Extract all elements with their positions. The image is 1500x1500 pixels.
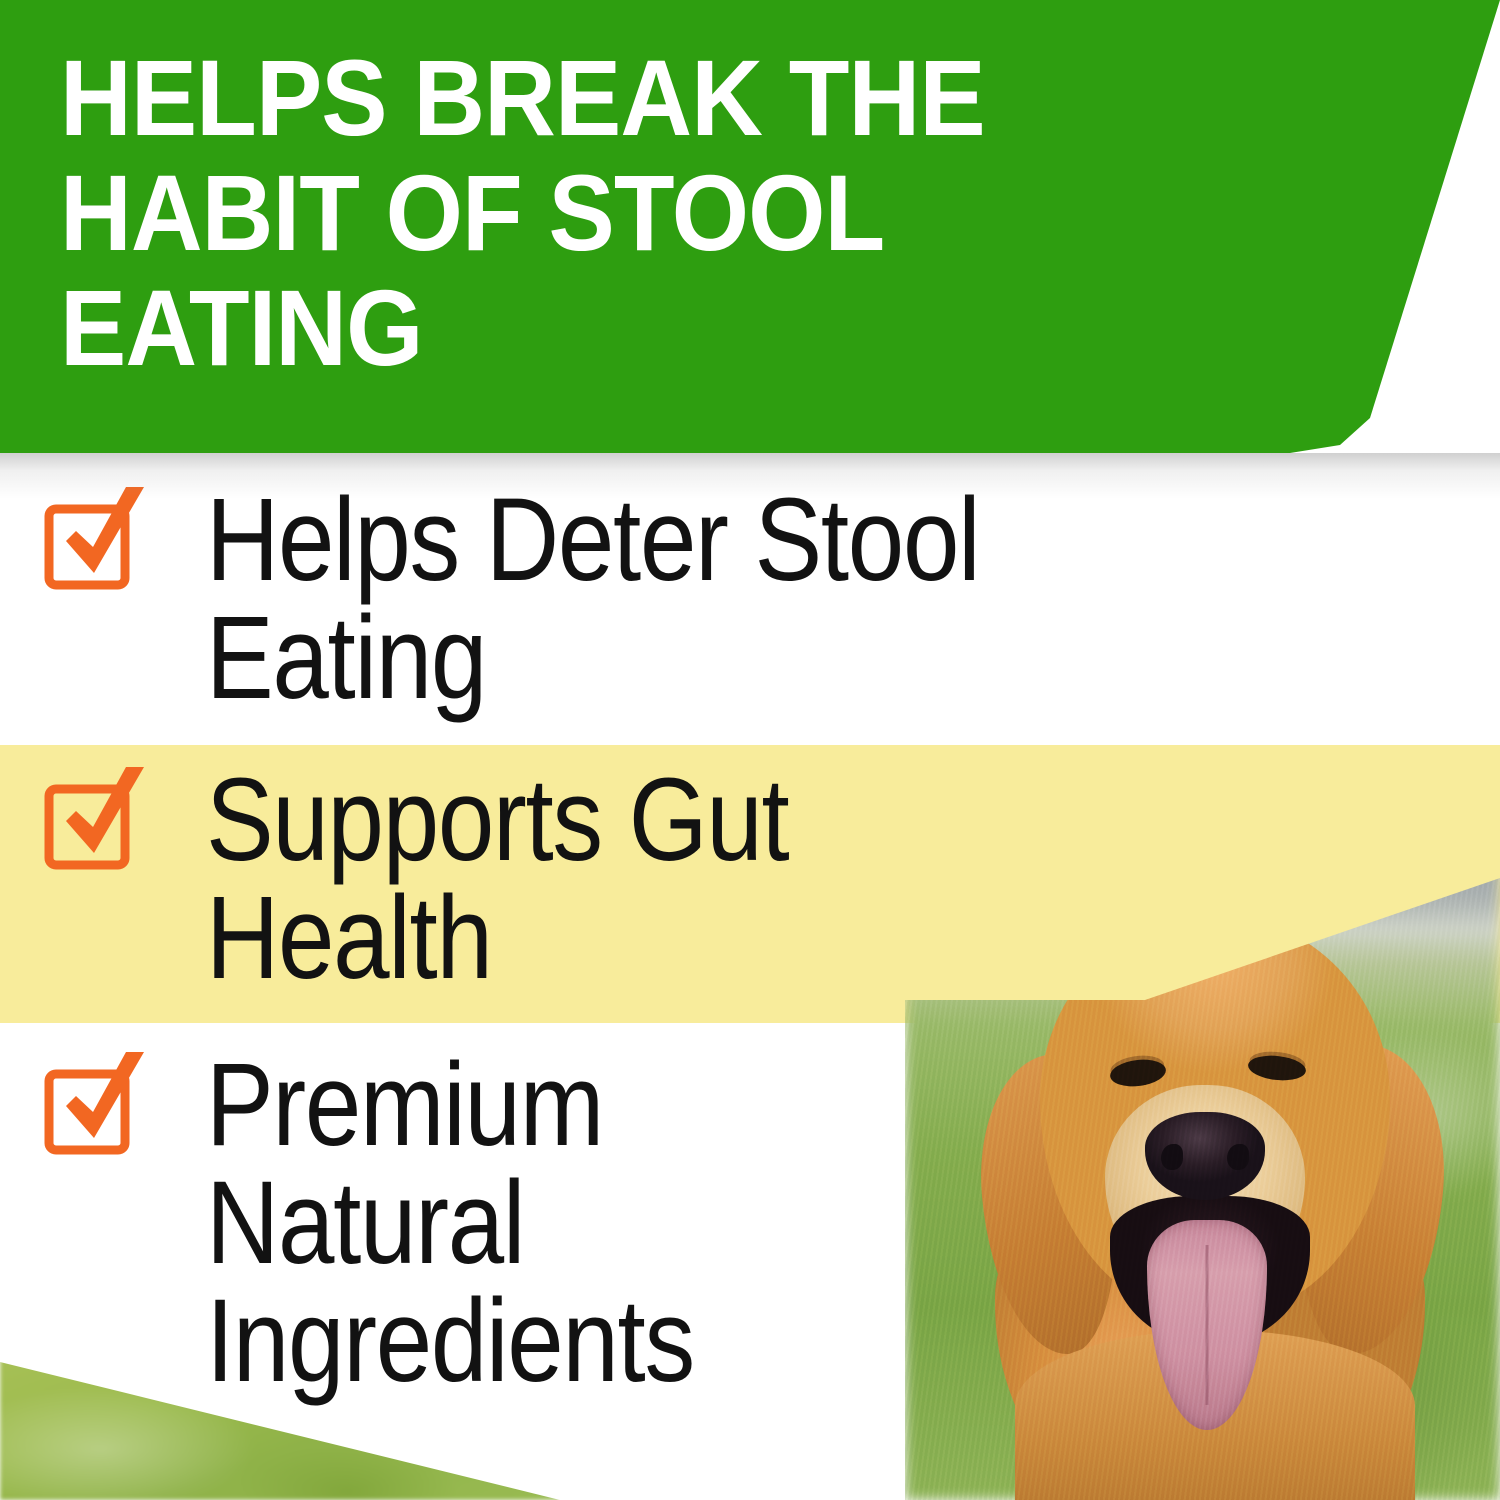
benefit-label: Supports Gut Health [206, 761, 788, 997]
checkbox-checked-icon [44, 1058, 154, 1163]
product-feature-graphic: Helps Deter Stool Eating Supports Gut He… [0, 0, 1500, 1500]
checkbox-checked-icon [44, 773, 154, 878]
benefit-label: Premium Natural Ingredients [206, 1046, 694, 1400]
benefit-row-3: Premium Natural Ingredients [44, 1058, 773, 1400]
benefit-row-1: Helps Deter Stool Eating [44, 493, 1105, 717]
headline-banner: HELPS BREAK THE HABIT OF STOOL EATING [0, 0, 1500, 453]
checkbox-checked-icon [44, 493, 154, 598]
page-title: HELPS BREAK THE HABIT OF STOOL EATING [60, 40, 1210, 385]
benefit-row-2: Supports Gut Health [44, 773, 883, 997]
banner-drop-shadow [0, 453, 1500, 499]
benefit-label: Helps Deter Stool Eating [206, 481, 979, 717]
